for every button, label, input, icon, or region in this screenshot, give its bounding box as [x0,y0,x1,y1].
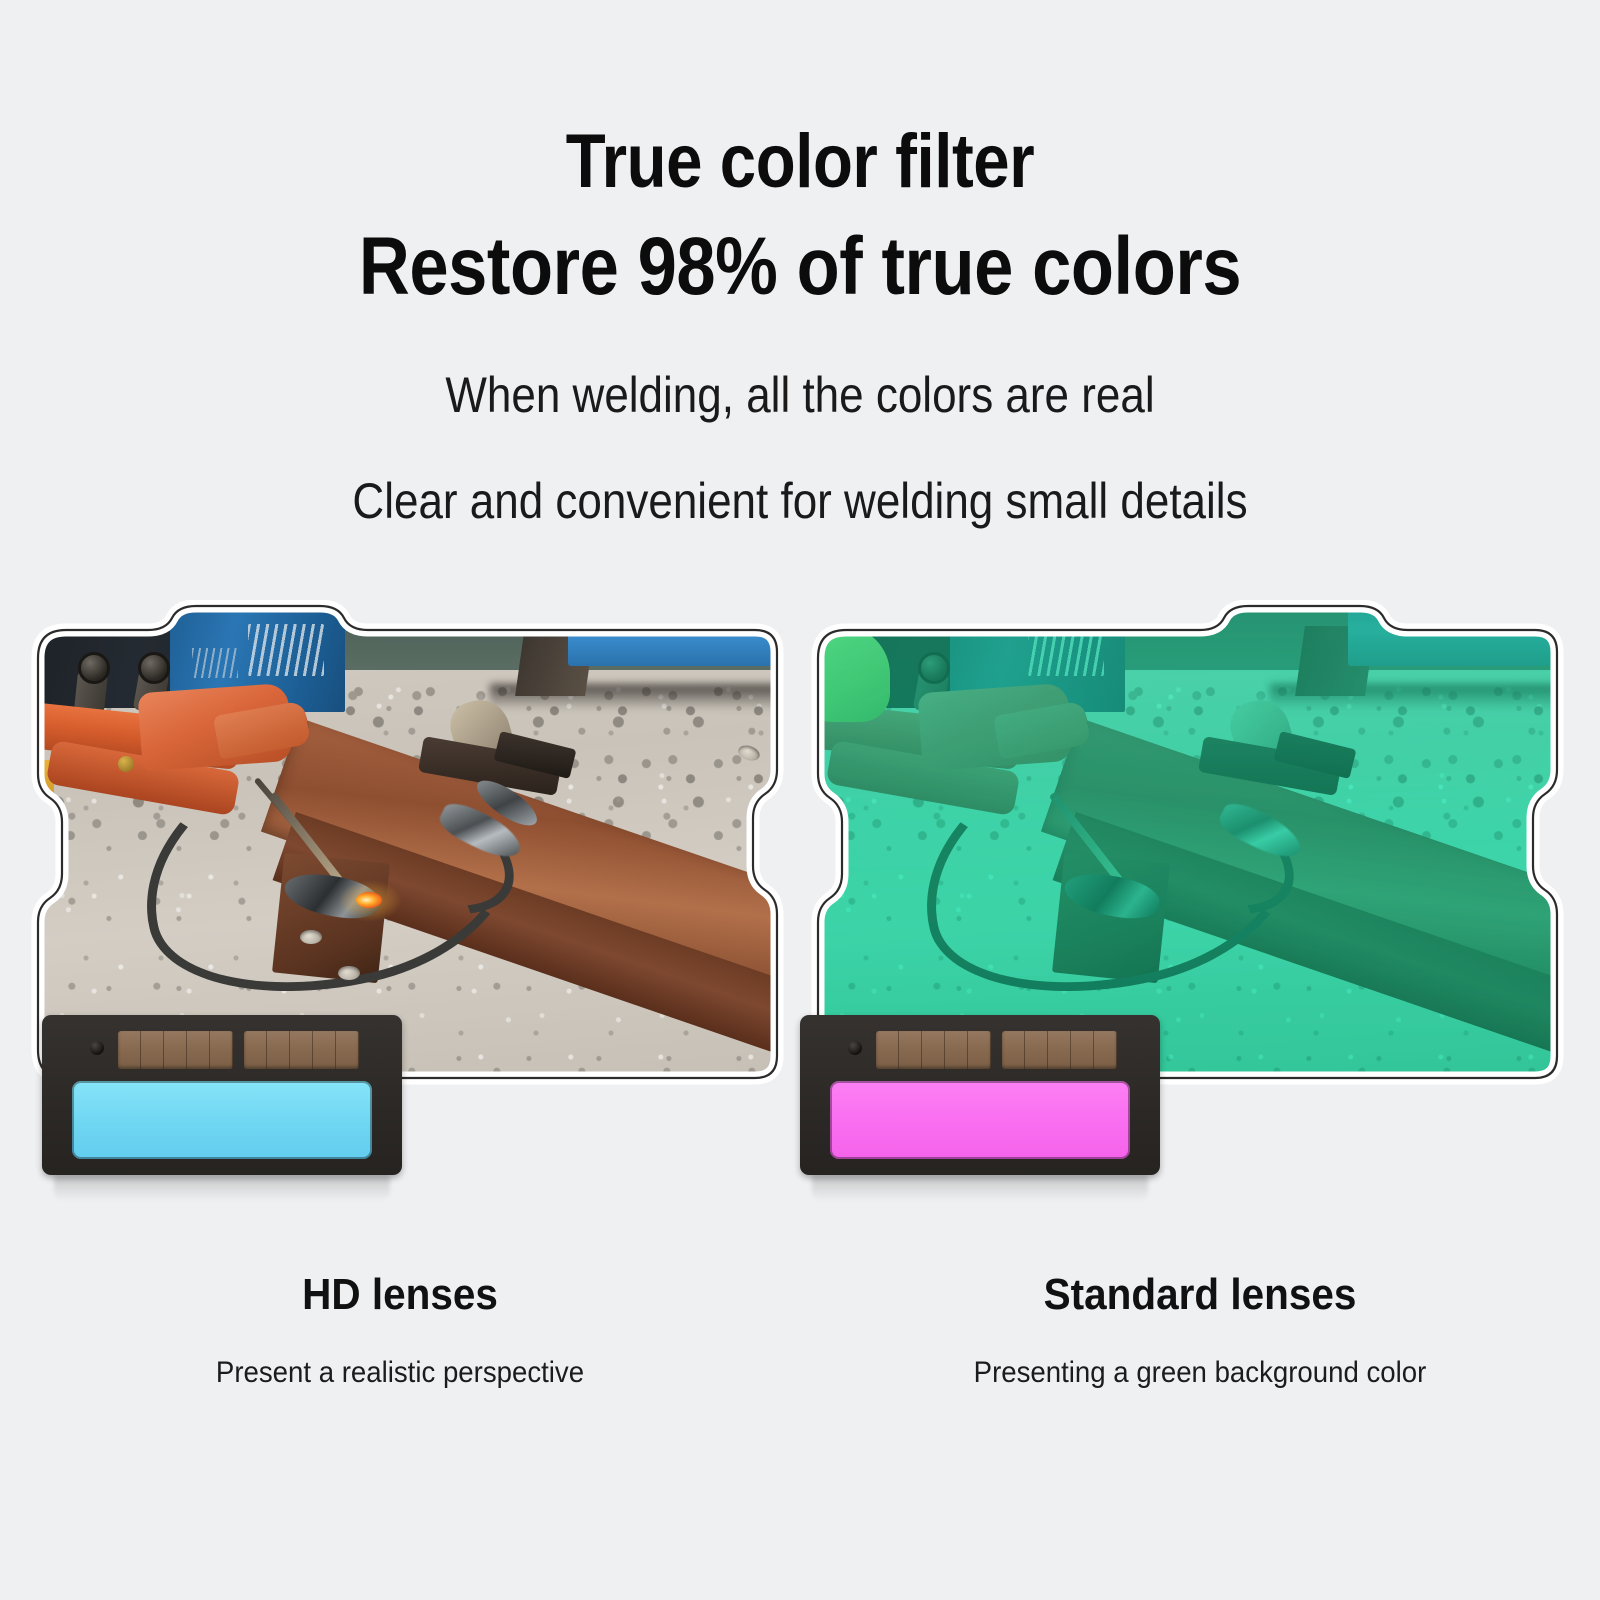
caption-hd: HD lenses Present a realistic perspectiv… [0,1270,800,1390]
hd-lens-cartridge [42,1015,402,1190]
hd-lens-reflection [54,1175,390,1201]
hd-lens-sensor-left [90,1041,104,1055]
hd-lens-body [42,1015,402,1175]
standard-lens-solar-cell-left [876,1031,991,1069]
solar-cell-segments [1002,1031,1117,1069]
caption-hd-title: HD lenses [32,1270,768,1320]
standard-lens-body [800,1015,1160,1175]
page-title-line2: Restore 98% of true colors [112,226,1488,308]
comparison-panels [0,600,1600,1220]
solar-cell-segments [118,1031,233,1069]
hd-lens-viewing-window [72,1081,372,1159]
standard-lens-reflection [812,1175,1148,1201]
hd-lens-solar-cell-right [244,1031,359,1069]
headings-block: True color filter Restore 98% of true co… [0,0,1600,526]
comparison-captions: HD lenses Present a realistic perspectiv… [0,1270,1600,1490]
solar-cell-segments [876,1031,991,1069]
standard-lens-sensor-left [848,1041,862,1055]
solar-cell-segments [244,1031,359,1069]
standard-lens-solar-cell-right [1002,1031,1117,1069]
caption-standard-title: Standard lenses [832,1270,1568,1320]
standard-lens-cartridge [800,1015,1160,1190]
caption-hd-subtitle: Present a realistic perspective [32,1356,768,1390]
comparison-panel-standard [800,600,1575,1100]
caption-standard: Standard lenses Presenting a green backg… [800,1270,1600,1390]
comparison-panel-hd [20,600,795,1100]
standard-lens-viewing-window [830,1081,1130,1159]
subtitle-line1: When welding, all the colors are real [96,370,1504,420]
product-feature-page: True color filter Restore 98% of true co… [0,0,1600,1600]
subtitle-line2: Clear and convenient for welding small d… [96,476,1504,526]
caption-standard-subtitle: Presenting a green background color [832,1356,1568,1390]
page-title-line1: True color filter [112,124,1488,200]
hd-lens-solar-cell-left [118,1031,233,1069]
